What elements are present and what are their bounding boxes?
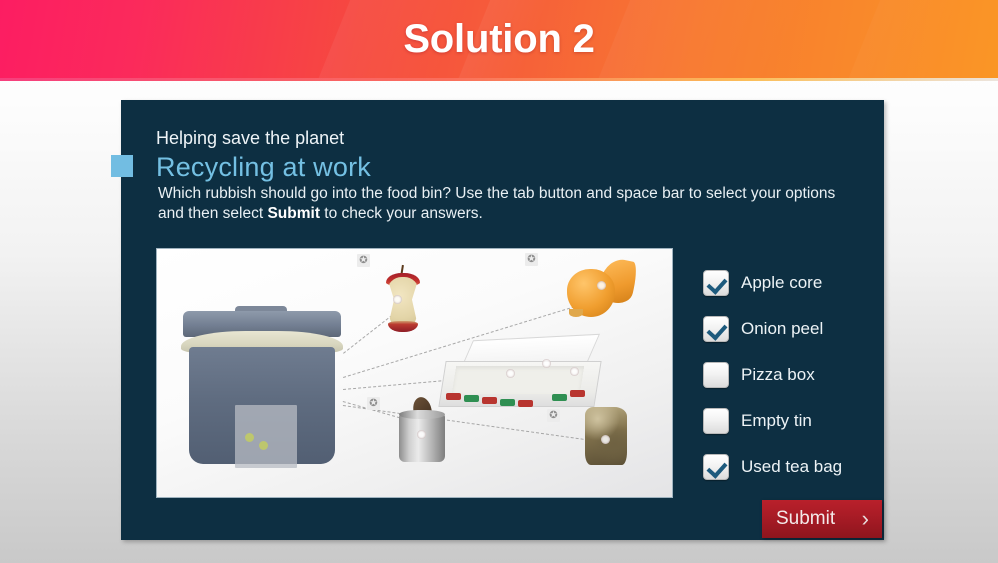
submit-button[interactable]: Submit › [762,500,882,538]
option-label-onion-peel: Onion peel [741,319,823,339]
food-bin-graphic [179,311,345,464]
recycling-diagram-image: ✪ ✪ ✪ ✪ [156,248,673,498]
option-row-onion-peel[interactable]: Onion peel [703,306,883,352]
instructions-text: Which rubbish should go into the food bi… [158,184,848,225]
pizza-box-stripe [482,397,497,404]
instructions-part2: to check your answers. [320,205,483,222]
panel-eyebrow: Helping save the planet [156,128,344,149]
apple-hotspot-pin [393,295,402,304]
accent-square [111,155,133,177]
instructions-part1: Which rubbish should go into the food bi… [158,185,835,222]
checkbox-pizza-box[interactable] [703,362,729,388]
checkbox-used-tea-bag[interactable] [703,454,729,480]
submit-button-label: Submit [776,508,835,530]
page-header-banner: Solution 2 [0,0,998,78]
empty-tin-graphic [399,400,445,462]
checkbox-apple-core[interactable] [703,270,729,296]
pizza-box-stripe [464,395,479,402]
option-label-empty-tin: Empty tin [741,411,812,431]
pizza-box-interior [452,366,584,394]
pizza-box-stripe [518,400,533,407]
activity-panel: Helping save the planet Recycling at wor… [121,100,884,540]
option-label-pizza-box: Pizza box [741,365,815,385]
tin-hotspot-pin [417,430,426,439]
pizza-box-stripe [552,394,567,401]
chevron-right-icon: › [862,506,869,532]
onion-hotspot-pin [597,281,606,290]
star-marker-apple: ✪ [357,254,370,267]
onion-peel-graphic [567,259,637,321]
tin-rim [399,410,445,419]
onion-root [569,309,583,317]
bin-body [189,347,335,464]
pizza-box-stripe [570,390,585,397]
instructions-bold-submit: Submit [267,205,320,222]
pizza-box-stripe [500,399,515,406]
option-row-pizza-box[interactable]: Pizza box [703,352,883,398]
used-tea-bag-graphic [585,407,627,465]
option-row-used-tea-bag[interactable]: Used tea bag [703,444,883,490]
option-label-apple-core: Apple core [741,273,822,293]
panel-heading: Recycling at work [156,152,371,183]
option-label-used-tea-bag: Used tea bag [741,457,842,477]
tea-hotspot-pin [601,435,610,444]
answer-options-list: Apple core Onion peel Pizza box Empty ti… [703,260,883,490]
option-row-apple-core[interactable]: Apple core [703,260,883,306]
pizza-hotspot-pin [542,359,551,368]
apple-core-graphic [379,265,427,331]
slide-canvas: Solution 2 Helping save the planet Recyc… [0,0,998,563]
checkbox-empty-tin[interactable] [703,408,729,434]
star-marker-tin: ✪ [367,397,380,410]
pizza-box-stripe [446,393,461,400]
pizza-hotspot-pin [506,369,515,378]
bin-label-dot [245,433,254,442]
option-row-empty-tin[interactable]: Empty tin [703,398,883,444]
apple-bottom [388,321,418,332]
pizza-box-graphic [442,337,604,414]
star-marker-onion: ✪ [525,253,538,266]
bin-label-sticker [235,405,297,468]
checkbox-onion-peel[interactable] [703,316,729,342]
bin-label-dot [259,441,268,450]
pizza-hotspot-pin [570,367,579,376]
page-title: Solution 2 [0,0,998,78]
header-divider-rule [0,78,998,81]
